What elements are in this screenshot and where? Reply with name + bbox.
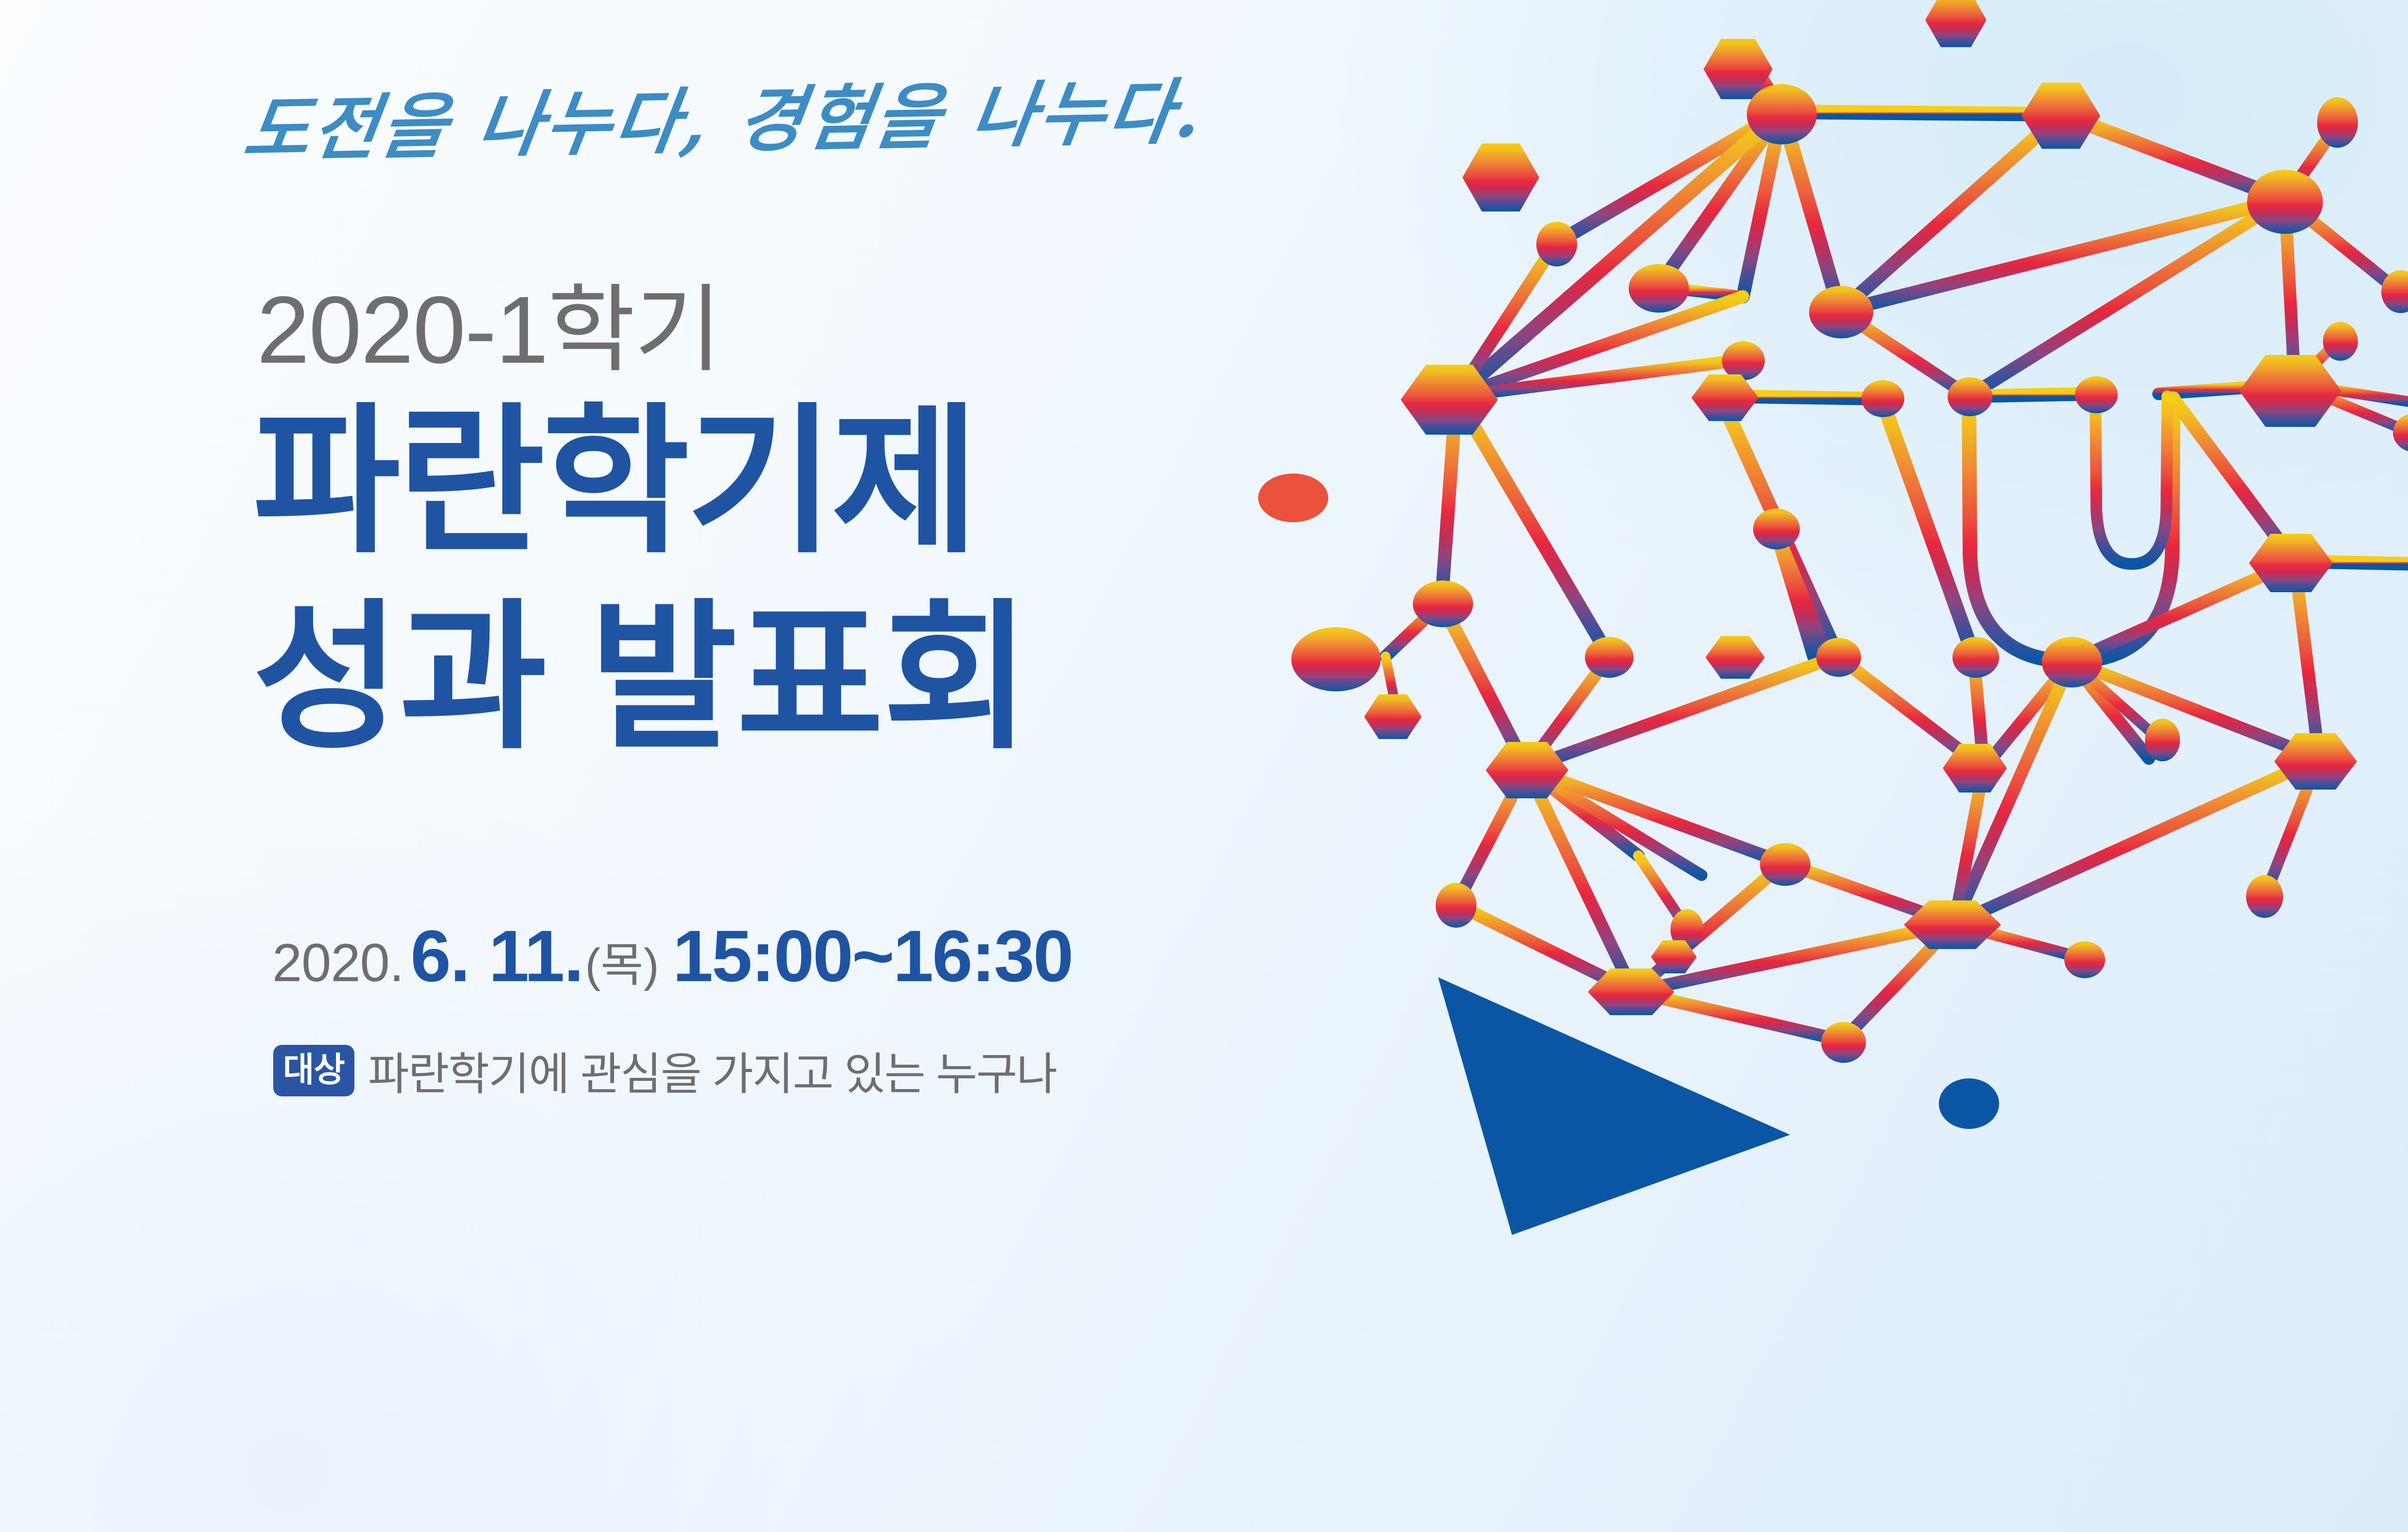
network-node xyxy=(2042,637,2102,687)
semester-label: 2020-1학기 xyxy=(257,253,721,390)
network-node xyxy=(2075,376,2118,413)
network-node xyxy=(1747,84,1817,144)
network-node xyxy=(1291,627,1381,691)
network-node xyxy=(1629,264,1689,313)
status-badge: 대상 xyxy=(273,1045,354,1096)
event-weekday: (목) xyxy=(585,927,659,995)
hexagon-node xyxy=(1462,143,1539,211)
hexagon-node xyxy=(1705,636,1765,679)
title-line-1: 파란학기제 xyxy=(253,392,976,571)
hexagon-node xyxy=(1691,374,1758,421)
network-node xyxy=(1816,638,1861,677)
network-node xyxy=(2323,322,2358,361)
poster-text-block: 도전을 나누다, 경험을 나누다. 2020-1학기 파란학기제 성과 발표회 … xyxy=(0,0,1274,1532)
network-node xyxy=(1585,637,1634,678)
network-molecule-graphic xyxy=(1235,0,2408,1532)
network-node xyxy=(2247,170,2323,234)
network-node xyxy=(1952,637,1999,678)
network-node xyxy=(1536,222,1577,266)
event-time-range: 15:00~16:30 xyxy=(673,914,1072,998)
event-year: 2020. xyxy=(272,932,404,994)
accent-circle-blue xyxy=(1939,1078,1999,1129)
event-poster: 도전을 나누다, 경험을 나누다. 2020-1학기 파란학기제 성과 발표회 … xyxy=(0,0,2408,1532)
tagline: 도전을 나누다, 경험을 나누다. xyxy=(238,54,1212,176)
network-node xyxy=(1821,1022,1866,1063)
title-line-2: 성과 발표회 xyxy=(253,580,1030,776)
audience-description: 파란학기에 관심을 가지고 있는 누구나 xyxy=(368,1038,1056,1103)
network-node xyxy=(2064,941,2105,978)
network-node xyxy=(1753,509,1800,549)
network-node xyxy=(1413,581,1473,627)
network-node xyxy=(2393,413,2408,452)
network-node xyxy=(1436,883,1476,928)
network-node xyxy=(2145,719,2180,761)
network-nodes xyxy=(1258,0,2408,1063)
hexagon-node xyxy=(1364,694,1422,739)
hexagon-node xyxy=(1925,0,1986,47)
page-title: 파란학기제 성과 발표회 xyxy=(253,384,1030,775)
event-datetime: 2020. 6. 11. (목) 15:00~16:30 xyxy=(272,914,1072,998)
network-node xyxy=(1862,380,1904,417)
network-svg xyxy=(1235,0,2408,1532)
network-node xyxy=(2246,875,2283,918)
event-day: 6. 11. xyxy=(410,914,583,998)
hexagon-node xyxy=(2239,355,2341,427)
network-node xyxy=(1809,286,1873,338)
network-node xyxy=(1760,843,1810,886)
hexagon-node xyxy=(2249,534,2333,592)
network-node xyxy=(1948,377,1992,416)
network-node xyxy=(2317,97,2358,148)
audience-row: 대상 파란학기에 관심을 가지고 있는 누구나 xyxy=(273,1038,1056,1103)
